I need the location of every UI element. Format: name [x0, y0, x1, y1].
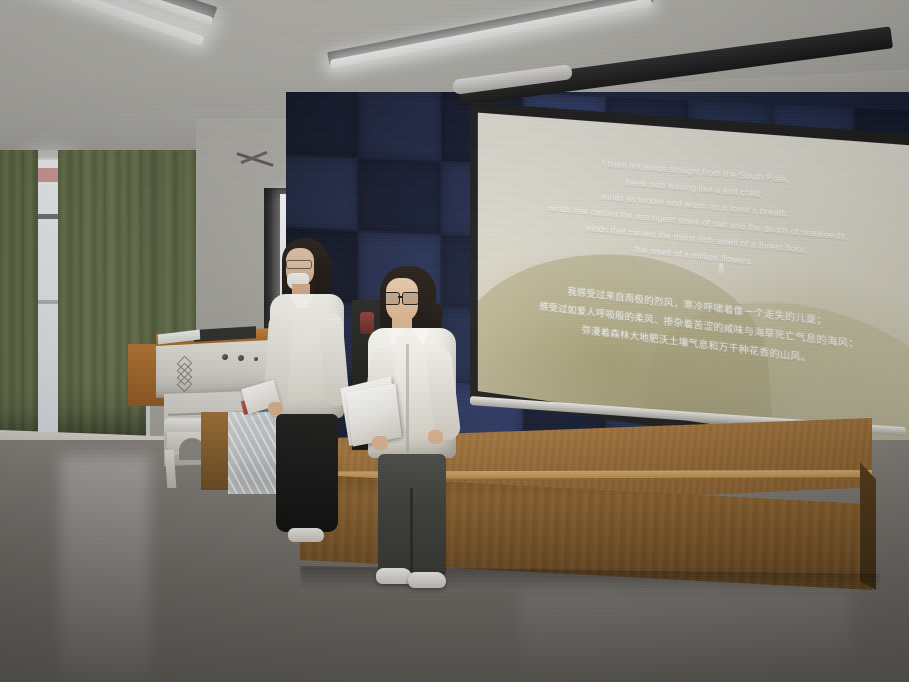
projection-screen-assembly: I have felt winds straight from the Sout…	[474, 78, 909, 430]
shoe	[376, 568, 412, 584]
shoe	[408, 572, 446, 588]
person-presenter-front	[366, 262, 464, 592]
window-exterior-detail	[38, 168, 59, 182]
shoe	[288, 528, 324, 542]
stool-leg	[165, 450, 177, 488]
right-hand	[428, 430, 443, 444]
slide-english-block: I have felt winds straight from the Sout…	[478, 146, 909, 290]
slide-chinese-block: 我感受过来自南极的烈风，寒冷呼啸着像一个走失的儿童； 感受过如爱人呼吸般的柔风、…	[478, 271, 909, 382]
glasses-icon	[383, 292, 419, 303]
lectern-emblem-icon	[174, 358, 192, 393]
floor-reflection	[520, 590, 850, 682]
left-hand	[372, 436, 388, 450]
photo-scene: I have felt winds straight from the Sout…	[0, 0, 909, 682]
acoustic-panel	[286, 92, 357, 157]
acoustic-panel	[286, 155, 357, 230]
wall-bracket-icon	[236, 152, 276, 180]
glasses-icon	[286, 260, 312, 269]
acoustic-panel	[359, 159, 440, 234]
acoustic-panel	[359, 92, 440, 161]
trouser-seam	[410, 488, 413, 576]
wooden-stool-body	[201, 412, 231, 490]
curtain-panel-left	[0, 150, 38, 440]
shirt-placket	[406, 344, 409, 452]
black-trousers	[276, 414, 338, 532]
person-presenter-back	[266, 230, 350, 560]
